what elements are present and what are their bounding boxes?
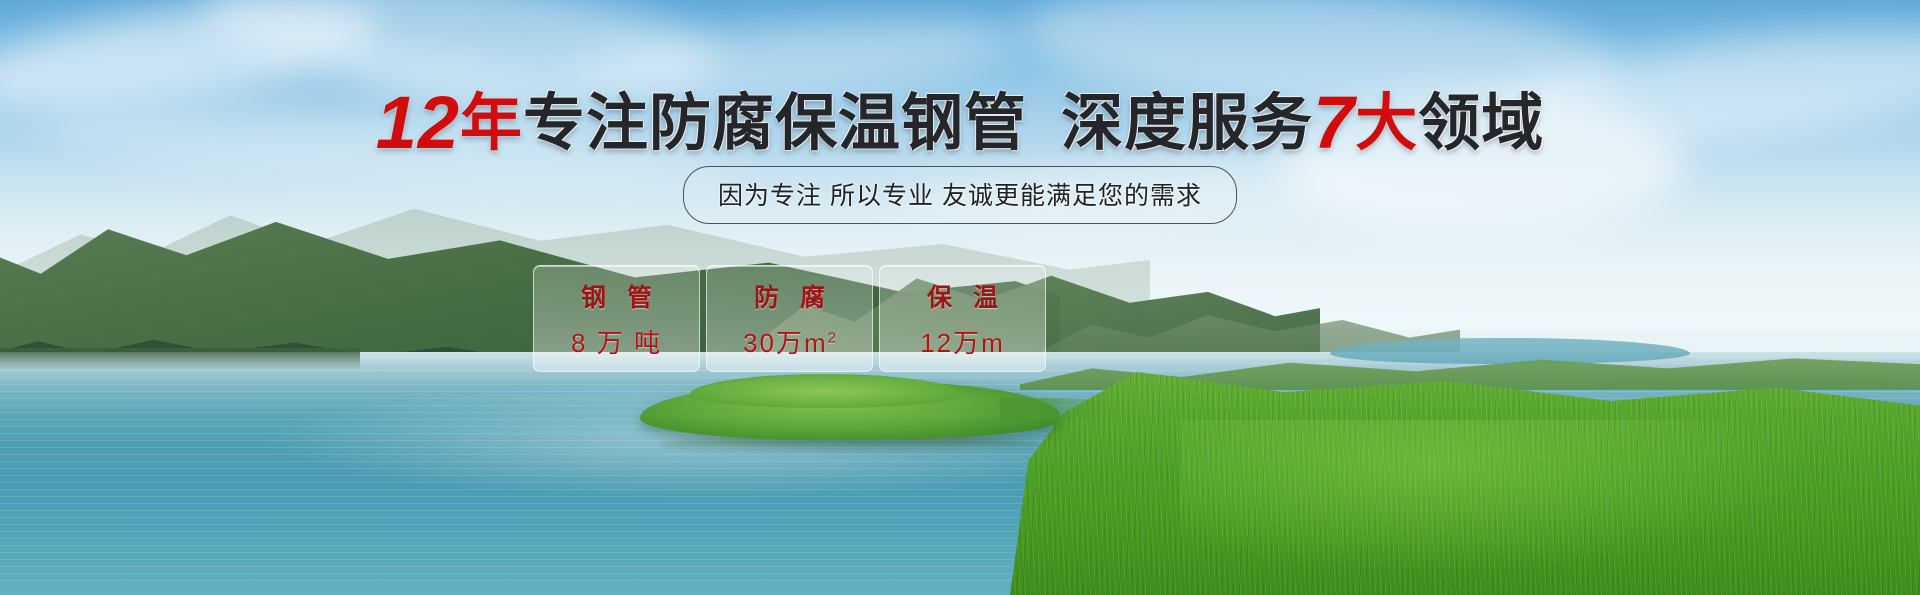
subtitle-pill: 因为专注 所以专业 友诚更能满足您的需求	[683, 166, 1237, 224]
headline-fields-number: 7	[1313, 86, 1355, 160]
stat-card-value: 30万m2	[743, 323, 836, 360]
headline-segment-four: 领域	[1418, 93, 1544, 155]
stat-card-value-text: 30万m	[743, 328, 828, 358]
stat-card-value: 12万m	[920, 323, 1005, 360]
stat-card-anticorrosion[interactable]: 防 腐 30万m2	[706, 265, 873, 372]
stat-card-insulation[interactable]: 保 温 12万m	[879, 265, 1046, 372]
stat-card-steel-pipe[interactable]: 钢 管 8 万 吨	[533, 265, 700, 372]
stat-card-list: 钢 管 8 万 吨 防 腐 30万m2 保 温 12万m	[533, 265, 1046, 372]
stat-card-title: 钢 管	[574, 278, 659, 314]
stat-card-value-text: 8 万 吨	[571, 328, 662, 358]
headline-fields-measure: 大	[1355, 93, 1418, 155]
stat-card-value-exponent: 2	[828, 329, 836, 346]
headline-segment-two: 深度服务	[1061, 93, 1313, 155]
hero-banner: 12年专注防腐保温钢管深度服务7大领域 因为专注 所以专业 友诚更能满足您的需求…	[0, 0, 1920, 595]
banner-content: 12年专注防腐保温钢管深度服务7大领域 因为专注 所以专业 友诚更能满足您的需求…	[0, 0, 1920, 595]
stat-card-value-text: 12万m	[920, 328, 1005, 358]
stat-card-value: 8 万 吨	[571, 323, 662, 360]
headline-segment-one: 专注防腐保温钢管	[523, 93, 1027, 155]
stat-card-title: 保 温	[920, 278, 1005, 314]
headline-years-unit: 年	[460, 93, 523, 155]
stat-card-title: 防 腐	[747, 278, 832, 314]
headline-years-number: 12	[376, 86, 460, 160]
page-title: 12年专注防腐保温钢管深度服务7大领域	[0, 86, 1920, 160]
